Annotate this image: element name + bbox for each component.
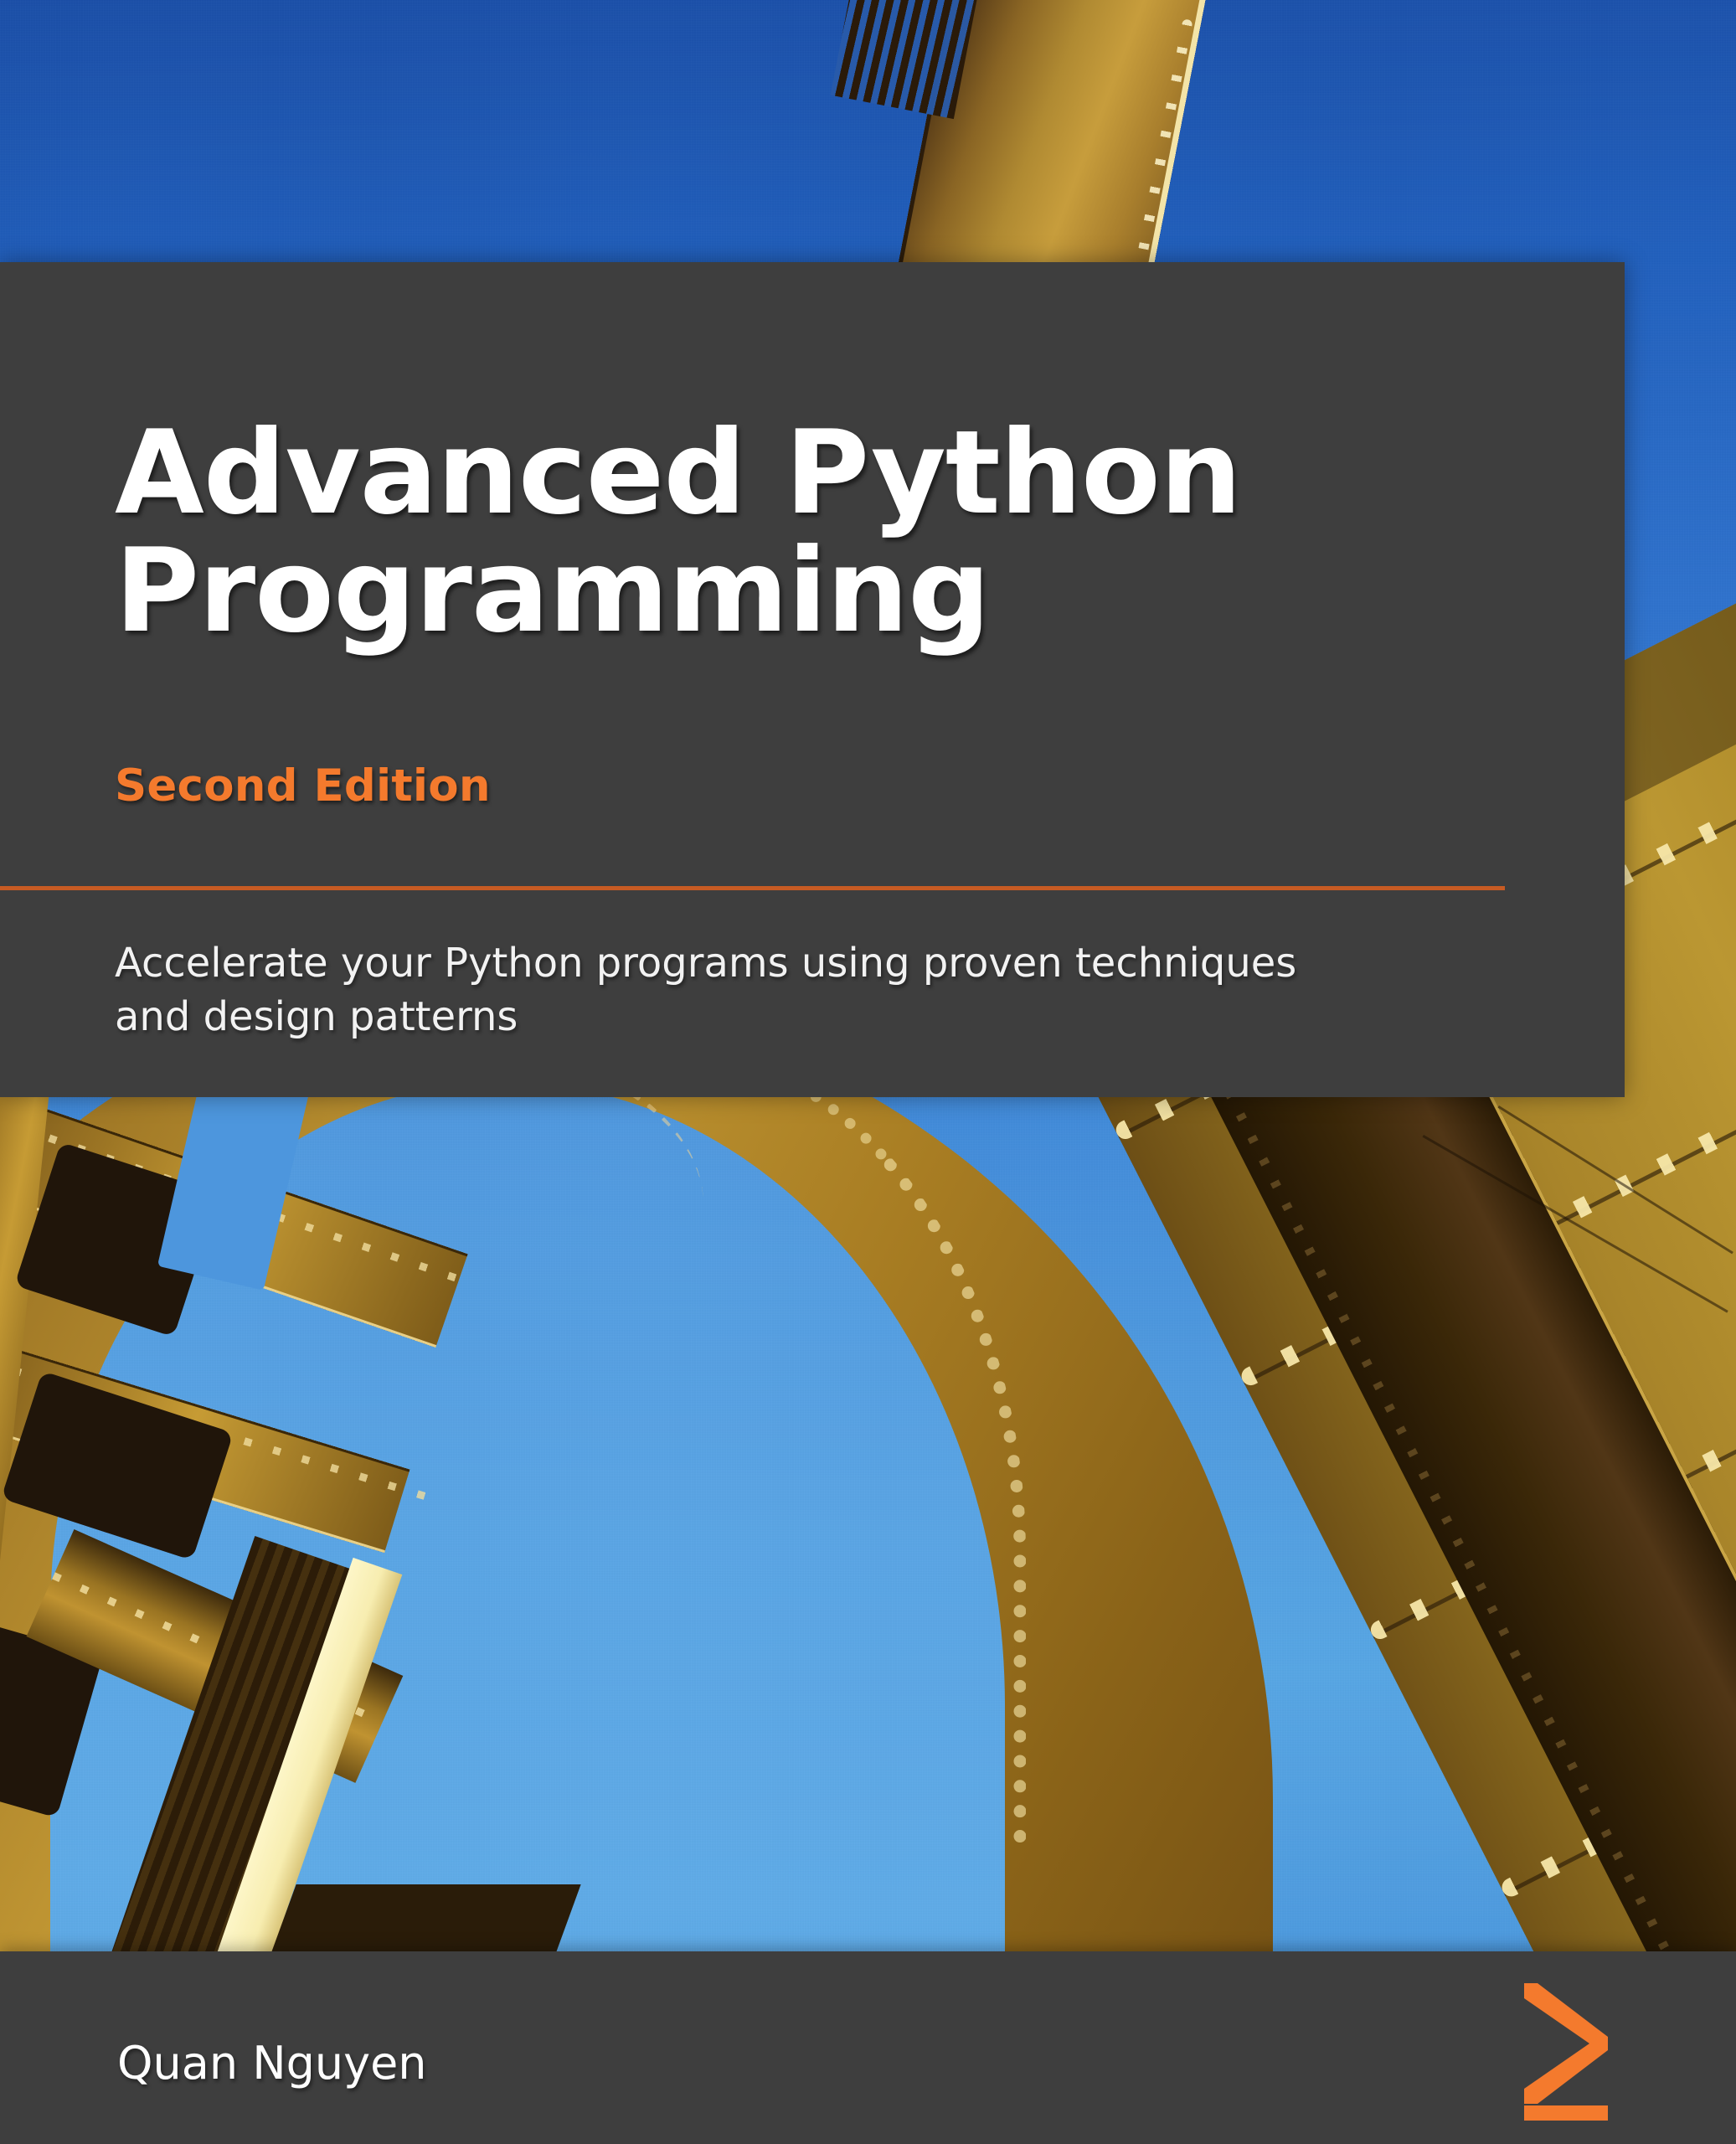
arch-rivet-line-right xyxy=(653,1038,1026,1845)
packt-logo xyxy=(1514,1980,1640,2121)
book-subtitle: Accelerate your Python programs using pr… xyxy=(115,936,1471,1044)
book-subtitle-line-2: and design patterns xyxy=(115,990,1471,1044)
book-cover: Advanced Python Programming Second Editi… xyxy=(0,0,1736,2144)
logo-underbar xyxy=(1524,2105,1608,2121)
footer-band: Quan Nguyen xyxy=(0,1951,1736,2144)
orange-divider-rule xyxy=(0,886,1505,890)
book-subtitle-line-1: Accelerate your Python programs using pr… xyxy=(115,936,1471,990)
edition-label: Second Edition xyxy=(115,760,491,812)
book-title: Advanced Python Programming xyxy=(115,415,1538,651)
chevron-right-icon xyxy=(1524,1983,1608,2104)
author-name: Quan Nguyen xyxy=(117,2037,427,2090)
book-title-line-2: Programming xyxy=(115,533,1538,651)
book-title-line-1: Advanced Python xyxy=(115,415,1538,533)
title-panel: Advanced Python Programming Second Editi… xyxy=(0,262,1625,1097)
